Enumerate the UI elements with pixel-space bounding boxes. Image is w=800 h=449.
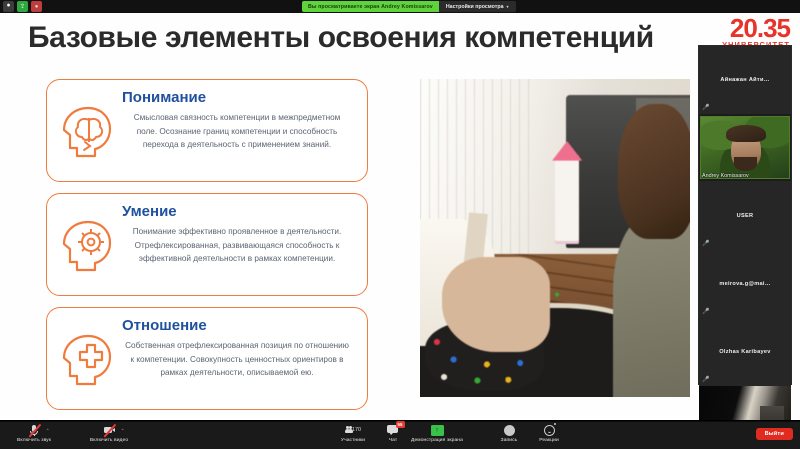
bottom-toolbar: ⌃ Включить звук ⌃ Включить видео 170 У <box>0 420 800 449</box>
mic-muted-icon: 🎤 <box>702 309 709 315</box>
participant-tile[interactable]: Olzhas Karibayev 🎤 <box>699 318 791 386</box>
shared-slide: Базовые элементы освоения компетенций 20… <box>0 13 800 420</box>
lego-photo <box>420 79 690 397</box>
share-screen-icon: ↑ <box>431 425 444 436</box>
zoom-meeting-window: ⏺ ⇪ ● Вы просматриваете экран Andrey Kom… <box>0 0 800 449</box>
reactions-icon <box>544 425 555 436</box>
mic-muted-icon: 🎤 <box>702 377 709 383</box>
record-icon <box>504 425 515 436</box>
start-video-button[interactable]: ⌃ Включить видео <box>78 423 140 443</box>
chevron-down-icon: ▾ <box>507 4 509 9</box>
top-left-chips: ⏺ ⇪ ● <box>0 1 42 12</box>
participant-name: USER <box>733 213 758 219</box>
mic-muted-icon: 🎤 <box>702 241 709 247</box>
screen-share-banner: Вы просматриваете экран Andrey Komissaro… <box>302 1 516 12</box>
card-title: Умение <box>122 203 353 220</box>
head-brain-icon <box>61 104 113 160</box>
unmute-audio-button[interactable]: ⌃ Включить звук <box>3 423 65 443</box>
view-options-label: Настройки просмотра <box>446 4 504 10</box>
page-title: Базовые элементы освоения компетенций <box>28 21 654 55</box>
card-body: Собственная отрефлексированная позиция п… <box>121 339 353 380</box>
share-screen-label: Демонстрация экрана <box>411 438 463 443</box>
mic-muted-icon: 🎤 <box>702 105 709 111</box>
unmute-audio-label: Включить звук <box>17 438 51 443</box>
card-body: Понимание эффективно проявленное в деяте… <box>121 225 353 266</box>
record-label: Запись <box>501 438 518 443</box>
chevron-up-icon[interactable]: ⌃ <box>121 428 125 434</box>
participant-tile[interactable]: USER 🎤 <box>699 182 791 250</box>
participants-count: 170 <box>352 427 361 433</box>
alert-chip-icon[interactable]: ● <box>31 1 42 12</box>
logo-number: 20.35 <box>722 15 790 41</box>
participant-tile-active[interactable]: Andrey Komissarov <box>699 114 791 182</box>
share-screen-button[interactable]: ↑ Демонстрация экрана <box>396 423 478 443</box>
head-plus-icon <box>61 332 113 388</box>
view-options-button[interactable]: Настройки просмотра ▾ <box>439 1 516 12</box>
camera-muted-icon <box>103 424 116 437</box>
leave-meeting-button[interactable]: Выйти <box>756 428 793 440</box>
photo-blur-overlay <box>420 79 690 397</box>
card-otnoshenie: Отношение Собственная отрефлексированная… <box>46 307 368 410</box>
start-video-label: Включить видео <box>90 438 128 443</box>
card-title: Понимание <box>122 89 353 106</box>
participant-video-feed <box>700 116 790 179</box>
share-notice-label: Вы просматриваете экран Andrey Komissaro… <box>302 1 439 12</box>
participant-face <box>731 132 761 170</box>
reactions-label: Реакции <box>539 438 559 443</box>
head-gear-icon <box>61 218 113 274</box>
chevron-up-icon[interactable]: ⌃ <box>46 428 50 434</box>
record-chip-icon[interactable]: ⏺ <box>3 1 14 12</box>
participant-name: Andrey Komissarov <box>702 173 749 179</box>
participant-name: Olzhas Karibayev <box>715 349 774 355</box>
participants-icon: 170 <box>345 425 361 436</box>
reactions-button[interactable]: Реакции <box>518 423 580 443</box>
university-logo: 20.35 УНИВЕРСИТЕТ <box>722 15 790 49</box>
share-chip-icon[interactable]: ⇪ <box>17 1 28 12</box>
card-umenie: Умение Понимание эффективно проявленное … <box>46 193 368 296</box>
participant-name: meirova.g@mai… <box>715 281 774 287</box>
participant-tile[interactable]: meirova.g@mai… 🎤 <box>699 250 791 318</box>
participant-strip[interactable]: Айнажан Айти… 🎤 Andrey Komissarov USER 🎤… <box>698 45 792 385</box>
participant-tile[interactable]: Айнажан Айти… 🎤 <box>699 46 791 114</box>
card-body: Смысловая связность компетенции в межпре… <box>121 111 353 152</box>
microphone-muted-icon <box>28 424 41 437</box>
card-title: Отношение <box>122 317 353 334</box>
participant-name: Айнажан Айти… <box>716 77 773 83</box>
top-toolbar: ⏺ ⇪ ● Вы просматриваете экран Andrey Kom… <box>0 0 800 13</box>
competency-cards: Понимание Смысловая связность компетенци… <box>46 79 368 420</box>
card-ponimanie: Понимание Смысловая связность компетенци… <box>46 79 368 182</box>
